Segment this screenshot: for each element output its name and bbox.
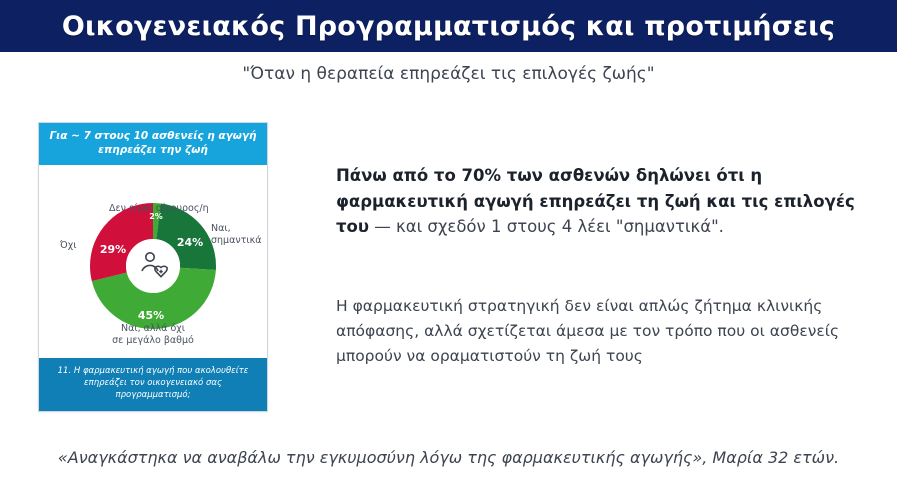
page-subtitle: "Όταν η θεραπεία επηρεάζει τις επιλογές … — [0, 64, 897, 84]
donut-value-yes-significant: 24% — [177, 236, 203, 249]
lead-paragraph: Πάνω από το 70% των ασθενών δηλώνει ότι … — [336, 163, 876, 240]
donut-chart-canvas: 2% 24% 45% 29% Δεν είμαι σίγουρος/η Ναι,… — [39, 165, 267, 370]
patient-quote: «Αναγκάστηκα να αναβάλω την εγκυμοσύνη λ… — [0, 448, 897, 467]
page-title: Οικογενειακός Προγραμματισμός και προτιμ… — [62, 11, 835, 42]
body-paragraph: Η φαρμακευτική στρατηγική δεν είναι απλώ… — [336, 294, 876, 368]
donut-value-yes-not-much: 45% — [138, 309, 164, 322]
donut-value-no: 29% — [100, 243, 126, 256]
donut-chart-svg: 2% 24% 45% 29% — [88, 201, 218, 331]
donut-chart: 2% 24% 45% 29% Δεν είμαι σίγουρος/η Ναι,… — [39, 165, 267, 370]
chart-card-header: Για ~ 7 στους 10 ασθενείς η αγωγή επηρεά… — [39, 123, 267, 165]
chart-card-footer: 11. Η φαρμακευτική αγωγή που ακολουθείτε… — [39, 358, 267, 411]
lead-paragraph-rest: — και σχεδόν 1 στους 4 λέει "σημαντικά". — [369, 217, 724, 236]
donut-label-yes-significant: Ναι,σημαντικά — [211, 223, 261, 247]
donut-label-yes-not-much: Ναι, αλλά όχισε μεγάλο βαθμό — [89, 323, 217, 347]
chart-card: Για ~ 7 στους 10 ασθενείς η αγωγή επηρεά… — [38, 122, 268, 412]
donut-label-unsure: Δεν είμαι σίγουρος/η — [109, 203, 209, 215]
page-title-bar: Οικογενειακός Προγραμματισμός και προτιμ… — [0, 0, 897, 52]
donut-label-no: Όχι — [60, 240, 76, 252]
